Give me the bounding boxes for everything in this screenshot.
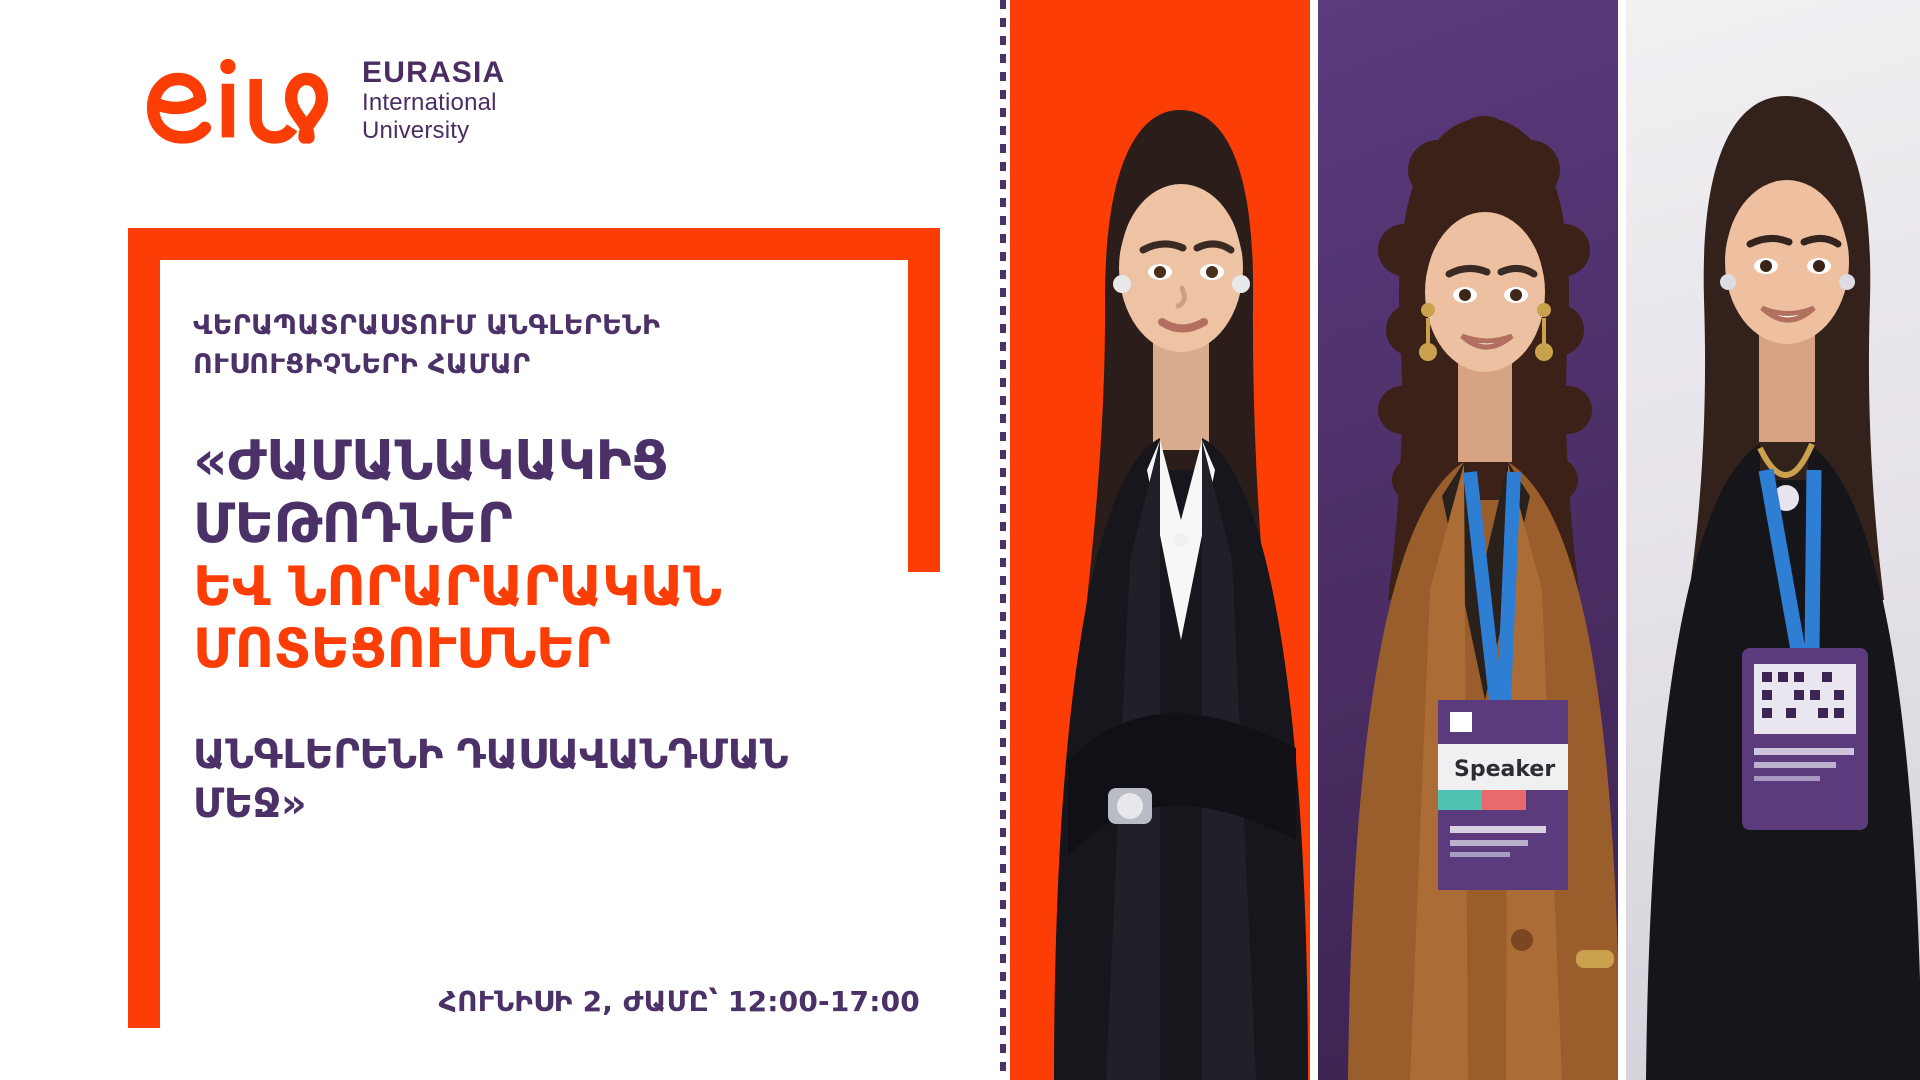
event-datetime: ՀՈՒՆԻՍԻ 2, ԺԱՄԸ՝ 12:00-17:00 [439,985,940,1018]
speaker-photo-2: Speaker [1318,0,1618,1080]
event-poster: EURASIA International University ՎԵՐԱՊԱՏ… [0,0,1920,1080]
dotted-divider [1000,0,1006,1080]
brand-line3: University [362,117,505,145]
logo-dot-icon [220,59,235,74]
speaker-1-illustration [1010,0,1310,1080]
brand-wordmark: EURASIA International University [362,57,505,145]
eyebrow-text: ՎԵՐԱՊԱՏՐԱՍՏՈՒՄ ԱՆԳԼԵՐԵՆԻ ՈՒՍՈՒՑԻՉՆԵՐԻ ՀԱ… [193,306,793,384]
left-content-pane: EURASIA International University ՎԵՐԱՊԱՏ… [0,0,1000,1080]
eiu-logo-mark [135,55,340,147]
speaker-2-illustration: Speaker [1318,0,1618,1080]
subheadline: ԱՆԳԼԵՐԵՆԻ ԴԱՍԱՎԱՆԴՄԱՆ ՄԵՋ» [193,731,913,829]
headline-line-4: ՄՈՏԵՑՈՒՄՆԵՐ [193,618,913,681]
headline-line-3: ԵՎ ՆՈՐԱՐԱՐԱԿԱՆ [193,556,913,619]
frame-top-bar [128,228,940,260]
subheadline-line-2: ՄԵՋ» [193,780,913,829]
speaker-photo-3 [1626,0,1920,1080]
speaker-3-illustration [1626,0,1920,1080]
speaker-badge-label: Speaker [1454,757,1555,782]
frame-left-bar [128,228,160,1028]
brand-logo[interactable]: EURASIA International University [135,55,505,147]
subheadline-line-1: ԱՆԳԼԵՐԵՆԻ ԴԱՍԱՎԱՆԴՄԱՆ [193,731,913,780]
brand-name: EURASIA [362,57,505,89]
headline-line-2: ՄԵԹՈԴՆԵՐ [193,493,913,556]
poster-copy: ՎԵՐԱՊԱՏՐԱՍՏՈՒՄ ԱՆԳԼԵՐԵՆԻ ՈՒՍՈՒՑԻՉՆԵՐԻ ՀԱ… [193,306,913,828]
speaker-photo-strips: Speaker [1010,0,1920,1080]
date-row: ՀՈՒՆԻՍԻ 2, ԺԱՄԸ՝ 12:00-17:00 [128,985,940,1018]
headline: «ԺԱՄԱՆԱԿԱԿԻՑ ՄԵԹՈԴՆԵՐ ԵՎ ՆՈՐԱՐԱՐԱԿԱՆ ՄՈՏ… [193,430,913,681]
speaker-photo-1 [1010,0,1310,1080]
headline-line-1: «ԺԱՄԱՆԱԿԱԿԻՑ [193,430,913,493]
brand-line2: International [362,89,505,117]
